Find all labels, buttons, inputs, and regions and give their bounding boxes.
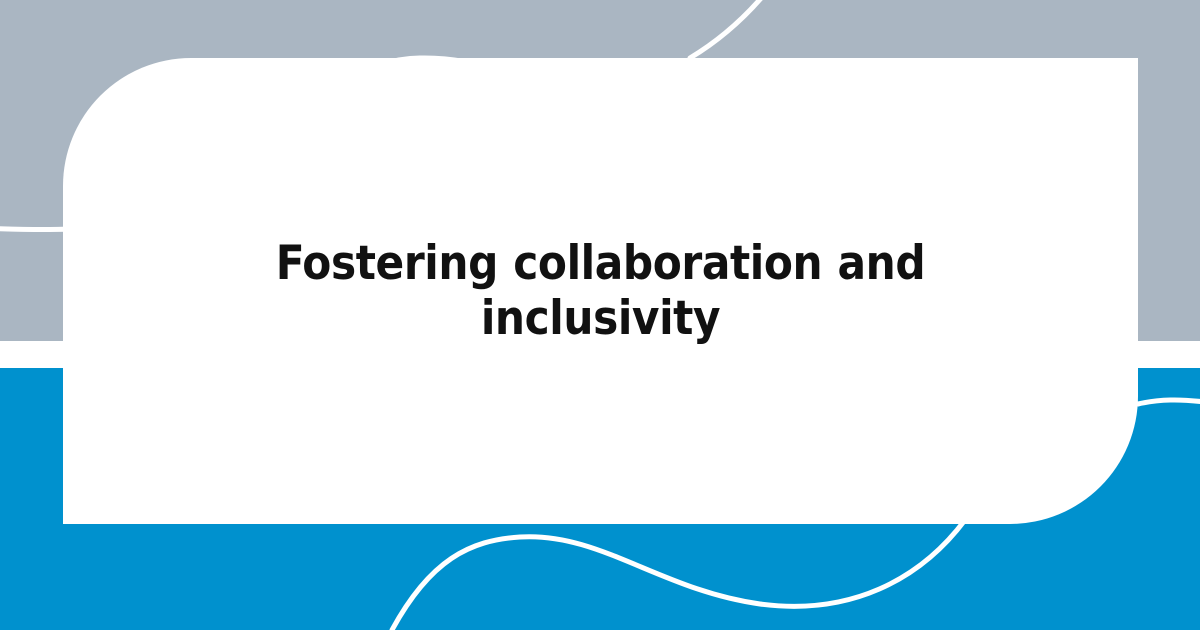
page-title: Fostering collaboration and inclusivity	[261, 236, 941, 346]
title-block: Fostering collaboration and inclusivity	[241, 236, 961, 346]
content-card: Fostering collaboration and inclusivity	[63, 58, 1138, 524]
slide-canvas: Fostering collaboration and inclusivity	[0, 0, 1200, 630]
